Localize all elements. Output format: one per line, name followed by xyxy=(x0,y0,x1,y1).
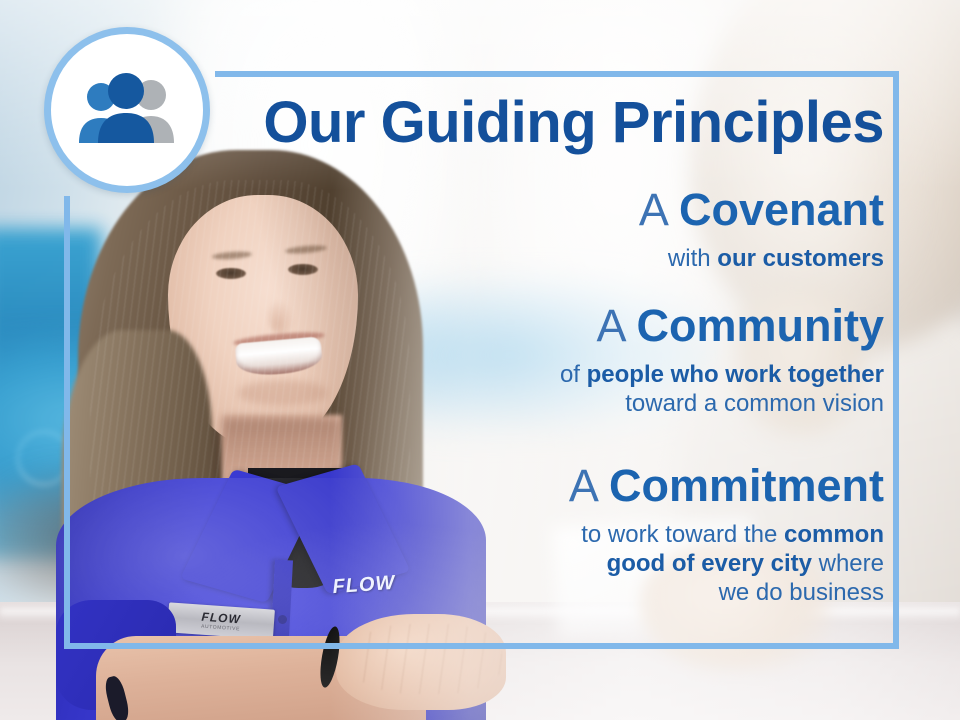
subtext-line: good of every city where xyxy=(0,549,884,578)
principle-covenant: A Covenant with our customers xyxy=(0,186,884,273)
subtext-segment-bold: good of every city xyxy=(607,550,812,577)
subtext-segment-bold: common xyxy=(784,521,884,548)
principle-subtext: to work toward the common good of every … xyxy=(0,520,884,608)
principle-commitment: A Commitment to work toward the common g… xyxy=(0,462,884,607)
subtext-line: with our customers xyxy=(668,245,884,272)
principle-heading: A Community xyxy=(0,302,884,351)
page-title: Our Guiding Principles xyxy=(0,94,884,152)
subtext-line: we do business xyxy=(0,578,884,607)
principle-community: A Community of people who work together … xyxy=(0,302,884,418)
principle-subtext: of people who work together toward a com… xyxy=(0,360,884,419)
subtext-segment-bold: people who work together xyxy=(587,361,884,388)
principle-keyword: Commitment xyxy=(609,460,884,511)
subtext-line: toward a common vision xyxy=(0,389,884,418)
guiding-principles-poster: FLOW FLOW AUTOMOTIVE xyxy=(0,0,960,720)
subtext-segment: of xyxy=(560,361,587,388)
principle-article: A xyxy=(569,460,597,511)
subtext-line: of people who work together xyxy=(0,360,884,389)
copy-block: Our Guiding Principles A Covenant with o… xyxy=(0,0,960,720)
subtext-segment: where xyxy=(812,550,884,577)
principle-article: A xyxy=(596,300,624,351)
subtext-segment: with xyxy=(668,245,717,272)
principle-subtext: with our customers xyxy=(0,244,884,273)
principle-heading: A Commitment xyxy=(0,462,884,511)
subtext-segment-bold: our customers xyxy=(717,245,884,272)
subtext-segment: to work toward the xyxy=(581,521,784,548)
principle-article: A xyxy=(639,184,667,235)
subtext-line: to work toward the common xyxy=(0,520,884,549)
principle-heading: A Covenant xyxy=(0,186,884,235)
principle-keyword: Community xyxy=(637,300,885,351)
principle-keyword: Covenant xyxy=(679,184,884,235)
